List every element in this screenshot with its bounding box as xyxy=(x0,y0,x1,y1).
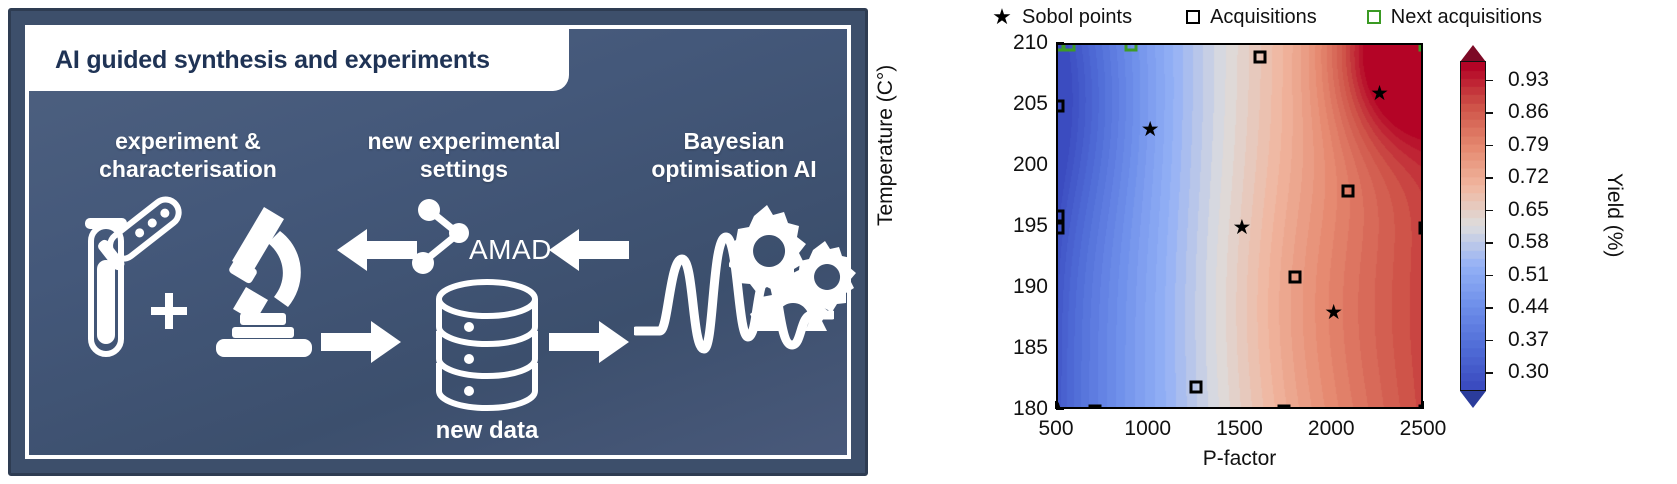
figure-root: AI guided synthesis and experiments expe… xyxy=(0,0,1677,484)
data-marker-sobol-points-1[interactable]: ★ xyxy=(1141,121,1159,139)
x-axis-tick-2500: 2500 xyxy=(1400,417,1447,441)
colorbar-tick-label-0.79: 0.79 xyxy=(1508,133,1549,157)
arrow-left-top-icon xyxy=(337,227,417,273)
colorbar-tick-label-0.65: 0.65 xyxy=(1508,198,1549,222)
data-marker-sobol-points-4[interactable]: ★ xyxy=(1370,85,1388,103)
data-marker-sobol-points-2[interactable]: ★ xyxy=(1233,219,1251,237)
yield-contour-figure: ★ Sobol points Acquisitions Next acquisi… xyxy=(880,0,1677,484)
data-marker-next-acquisitions-1[interactable] xyxy=(1063,43,1076,52)
colorbar-tickmark-0.86 xyxy=(1486,112,1493,114)
x-axis-tick-1000: 1000 xyxy=(1124,417,1171,441)
column-label-bayesian: Bayesianoptimisation AI xyxy=(609,127,859,183)
column-label-bayesian-line1: Bayesian xyxy=(609,127,859,155)
x-axis-tick-500: 500 xyxy=(1038,417,1073,441)
colorbar-tick-label-0.37: 0.37 xyxy=(1508,328,1549,352)
colorbar-tick-label-0.30: 0.30 xyxy=(1508,360,1549,384)
data-marker-acquisitions-1[interactable] xyxy=(1056,209,1065,222)
vial-icon xyxy=(87,184,197,279)
data-marker-sobol-points-0[interactable]: ★ xyxy=(1056,402,1067,409)
colorbar-tick-label-0.86: 0.86 xyxy=(1508,100,1549,124)
page-title: AI guided synthesis and experiments xyxy=(55,46,490,75)
colorbar-tick-label-0.44: 0.44 xyxy=(1508,295,1549,319)
gears-icon xyxy=(729,201,859,331)
data-marker-acquisitions-5[interactable] xyxy=(1253,51,1266,64)
contour-plot-area[interactable]: ★★★★★ xyxy=(1056,43,1423,409)
colorbar-tick-label-0.51: 0.51 xyxy=(1508,263,1549,287)
data-marker-acquisitions-6[interactable] xyxy=(1277,405,1290,410)
colorbar-tickmark-0.30 xyxy=(1486,372,1493,374)
colorbar: 0.300.370.440.510.580.650.720.790.860.93… xyxy=(1450,43,1660,409)
y-axis-tick-185: 185 xyxy=(1010,336,1048,360)
y-axis-label: Temperature (C°) xyxy=(874,65,898,226)
colorbar-tickmark-0.44 xyxy=(1486,307,1493,309)
colorbar-tick-label-0.58: 0.58 xyxy=(1508,230,1549,254)
new-data-label: new data xyxy=(367,417,607,445)
colorbar-tickmark-0.58 xyxy=(1486,242,1493,244)
database-icon xyxy=(427,277,547,417)
colorbar-gradient xyxy=(1460,61,1486,391)
colorbar-tickmark-0.93 xyxy=(1486,80,1493,82)
data-marker-sobol-points-3[interactable]: ★ xyxy=(1324,304,1342,322)
infographic-inner: AI guided synthesis and experiments expe… xyxy=(25,25,851,459)
x-axis-tick-1500: 1500 xyxy=(1216,417,1263,441)
data-marker-acquisitions-3[interactable] xyxy=(1088,405,1101,410)
data-marker-next-acquisitions-3[interactable] xyxy=(1419,43,1424,52)
column-label-experiment-line2: characterisation xyxy=(53,155,323,183)
arrow-left-right-icon xyxy=(549,227,629,273)
x-axis-label: P-factor xyxy=(1056,447,1423,471)
y-axis-tick-200: 200 xyxy=(1010,153,1048,177)
colorbar-tick-label-0.72: 0.72 xyxy=(1508,165,1549,189)
microscope-icon xyxy=(194,201,324,361)
colorbar-extend-bottom xyxy=(1460,391,1486,408)
column-label-settings: new experimentalsettings xyxy=(329,127,599,183)
y-axis-tick-205: 205 xyxy=(1010,92,1048,116)
data-marker-acquisitions-4[interactable] xyxy=(1189,380,1202,393)
y-axis-tick-195: 195 xyxy=(1010,214,1048,238)
column-label-experiment-line1: experiment & xyxy=(53,127,323,155)
colorbar-tickmark-0.79 xyxy=(1486,145,1493,147)
amad-label: AMAD xyxy=(469,234,552,266)
colorbar-tickmark-0.72 xyxy=(1486,177,1493,179)
plus-icon xyxy=(149,291,189,331)
data-marker-acquisitions-2[interactable] xyxy=(1056,222,1065,235)
data-marker-next-acquisitions-2[interactable] xyxy=(1125,43,1138,52)
colorbar-tickmark-0.51 xyxy=(1486,275,1493,277)
y-axis-tick-210: 210 xyxy=(1010,31,1048,55)
colorbar-tickmark-0.65 xyxy=(1486,210,1493,212)
colorbar-tick-label-0.93: 0.93 xyxy=(1508,68,1549,92)
column-label-settings-line2: settings xyxy=(329,155,599,183)
data-marker-acquisitions-8[interactable] xyxy=(1341,185,1354,198)
colorbar-extend-top xyxy=(1460,45,1486,62)
data-marker-acquisitions-9[interactable] xyxy=(1419,222,1424,235)
column-label-settings-line1: new experimental xyxy=(329,127,599,155)
arrow-right-bottom-icon xyxy=(321,319,401,365)
colorbar-tickmark-0.37 xyxy=(1486,340,1493,342)
data-marker-acquisitions-7[interactable] xyxy=(1288,270,1301,283)
infographic-title-tab: AI guided synthesis and experiments xyxy=(29,29,569,91)
plot-wrapper: Temperature (C°) P-factor 18018519019520… xyxy=(880,0,1677,484)
y-axis-tick-190: 190 xyxy=(1010,275,1048,299)
infographic-panel: AI guided synthesis and experiments expe… xyxy=(8,8,868,476)
colorbar-label: Yield (%) xyxy=(1602,173,1626,257)
data-marker-acquisitions-10[interactable] xyxy=(1419,405,1424,410)
data-marker-acquisitions-0[interactable] xyxy=(1056,100,1065,113)
column-label-experiment: experiment &characterisation xyxy=(53,127,323,183)
column-label-bayesian-line2: optimisation AI xyxy=(609,155,859,183)
x-axis-tick-2000: 2000 xyxy=(1308,417,1355,441)
arrow-right-to-wave-icon xyxy=(549,319,629,365)
